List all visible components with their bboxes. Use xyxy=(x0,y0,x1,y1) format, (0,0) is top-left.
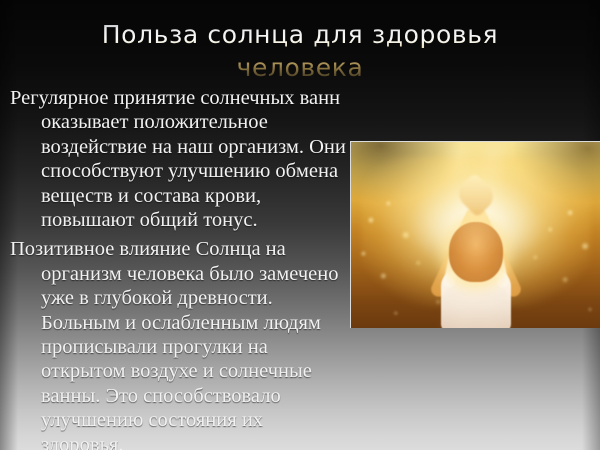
body-paragraph-1: Регулярное принятие солнечных ванн оказы… xyxy=(10,86,346,232)
presentation-slide: Польза солнца для здоровья человека Регу… xyxy=(0,0,600,450)
body-paragraph-2: Позитивное влияние Солнца на организм че… xyxy=(10,237,346,450)
sun-meadow-photo-image xyxy=(351,142,600,328)
photo-warm-haze-vignette xyxy=(351,142,600,328)
slide-title: Польза солнца для здоровья человека xyxy=(60,18,540,84)
slide-photo xyxy=(350,141,600,328)
slide-body-text: Регулярное принятие солнечных ванн оказы… xyxy=(10,86,346,450)
